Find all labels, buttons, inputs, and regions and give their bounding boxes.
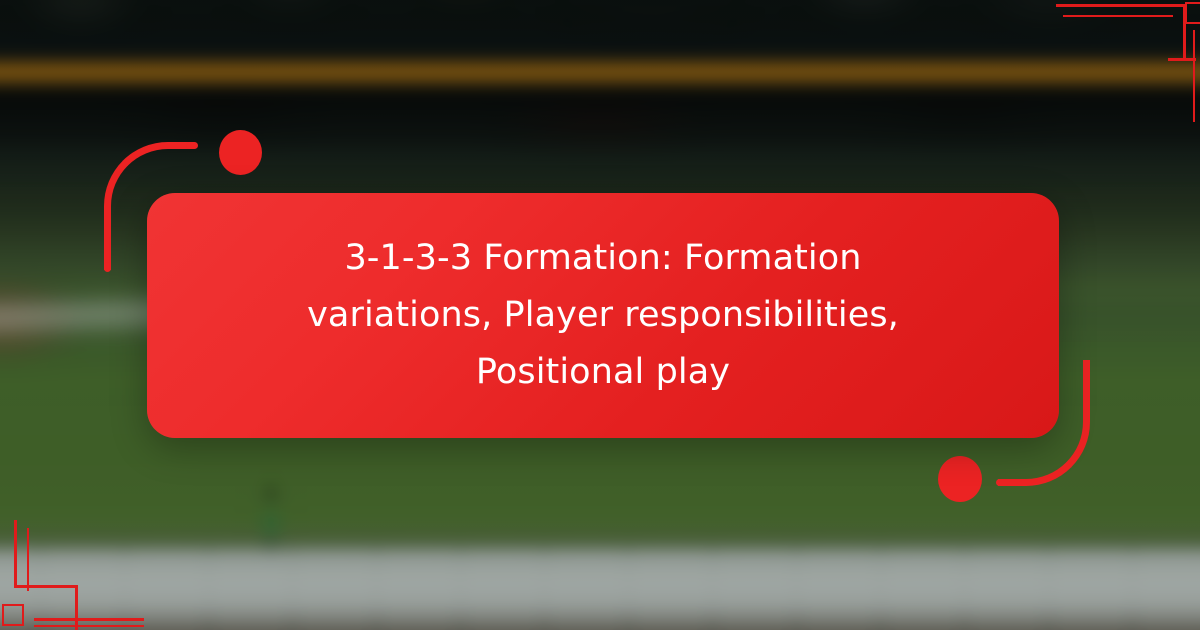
frame-bottom-left-vertical-inner [27,528,29,591]
accent-arc-top-left-tip [186,142,198,149]
accent-dot-top-left [219,130,262,175]
accent-dot-bottom-right [938,456,982,502]
frame-bottom-left-elbow-connector [14,585,78,588]
share-card-canvas: 3-1-3-3 Formation: Formation variations,… [0,0,1200,630]
title-card: 3-1-3-3 Formation: Formation variations,… [147,193,1059,438]
accent-arc-top-left-cap [104,262,111,272]
frame-top-right-horizontal-outer [1056,4,1186,7]
frame-bottom-left-vertical-outer [14,520,17,588]
page-title: 3-1-3-3 Formation: Formation variations,… [253,230,953,400]
frame-bottom-left-square [2,604,24,626]
frame-bottom-left-horizontal-outer [34,618,144,621]
frame-bottom-left-vertical-stub [75,585,78,630]
frame-top-right-vertical-inner [1193,30,1195,122]
accent-arc-bottom-right-cap [1083,360,1090,370]
frame-top-right-elbow-connector [1168,58,1196,61]
frame-top-right-square [1185,2,1200,24]
frame-bottom-left-horizontal-inner [34,625,144,627]
accent-arc-bottom-right-tip [996,479,1008,486]
frame-top-right-horizontal-inner [1063,15,1173,17]
